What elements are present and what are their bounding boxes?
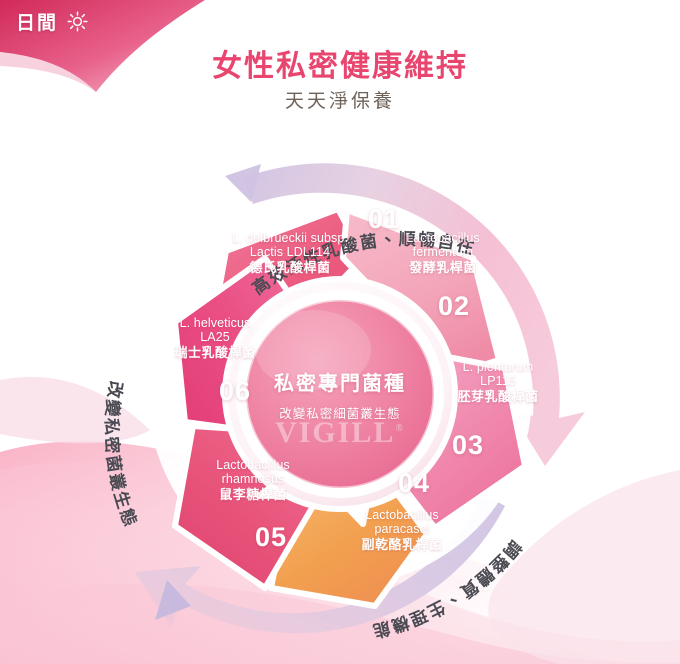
page-subtitle: 天天淨保養 — [0, 86, 680, 113]
day-badge-content: 日間 — [16, 8, 88, 35]
infographic-canvas: 日間 女性私密健康維持 天 — [0, 0, 680, 664]
page-title: 女性私密健康維持 — [0, 41, 680, 85]
day-badge-label: 日間 — [16, 8, 58, 35]
wheel-graphics — [75, 136, 605, 656]
probiotic-wheel: 高效活性乳酸菌、順暢自在 調整體質、生理機能 改變私密菌叢生態 私密專門菌種 改… — [75, 136, 605, 656]
sun-icon — [67, 11, 88, 32]
